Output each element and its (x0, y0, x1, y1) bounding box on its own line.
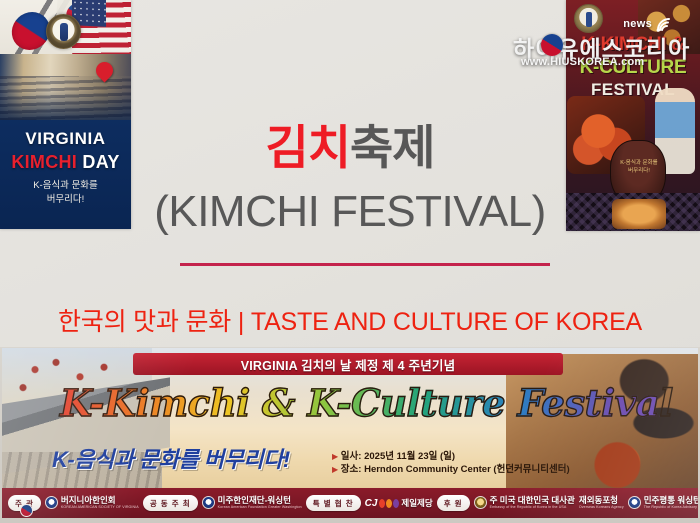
banner-info-place: ▶ 장소: Herndon Community Center (헌던커뮤니티센터… (332, 461, 570, 475)
sponsor-org-1: 미주한인재단-워싱턴 Korean American Foundation Gr… (202, 496, 302, 509)
banner-artwork: VIRGINIA 김치의 날 제정 제 4 주년기념 K-Kimchi & K-… (2, 348, 698, 518)
sponsor-emblem-icon (474, 496, 487, 509)
banner-subtitle: K-음식과 문화를 버무리다! (52, 442, 290, 474)
cj-dot-purple (393, 499, 399, 508)
poster-right-line1: K-KIMCHI & (566, 34, 700, 56)
sponsor-emblem-icon (45, 496, 58, 509)
poster-left-chamber-photo (0, 54, 131, 120)
cj-dot-orange (386, 499, 392, 508)
sponsor-role-3: 후 원 (437, 495, 470, 511)
banner-title: K-Kimchi & K-Culture Festival (60, 381, 660, 433)
banner-info-date: ▶ 일사: 2025년 11월 23일 (일) (332, 448, 455, 462)
sponsor-role-2: 특 별 협 찬 (306, 495, 361, 511)
sponsor-name-en-1: Korean American Foundation Greater Washi… (218, 506, 302, 510)
sponsor-emblem-icon (202, 496, 215, 509)
sponsor-name-4: 재외동포청 Overseas Koreans Agency (579, 496, 624, 509)
sponsor-name-5: 민주평통 워싱턴협의회 The Republic of Korea Adviso… (644, 496, 698, 509)
taeguk-circle-icon (541, 34, 563, 56)
sponsor-name-0: 버지니아한인회 KOREAN AMERICAN SOCIETY OF VIRGI… (61, 496, 139, 509)
page-title-kimchi: 김치 (266, 121, 350, 174)
title-divider (180, 263, 550, 266)
banner-ribbon-text: VIRGINIA 김치의 날 제정 제 4 주년기념 (241, 355, 456, 374)
sponsor-org-4: 재외동포청 Overseas Koreans Agency (579, 496, 624, 509)
poster-right-line2: K-CULTURE (566, 57, 700, 79)
page-title-festival: 축제 (350, 121, 434, 174)
virginia-seal-icon (574, 4, 603, 33)
cj-logo-text: CJ (365, 498, 378, 509)
chamber-seating-rows (0, 76, 131, 120)
sponsor-org-5: 민주평통 워싱턴협의회 The Republic of Korea Adviso… (628, 496, 698, 509)
bullet-arrow-icon: ▶ (332, 452, 338, 461)
sponsor-org-3: 주 미국 대한민국 대사관 Embassy of the Republic of… (474, 496, 575, 509)
cj-dot-red (379, 499, 385, 508)
sponsor-name-en-5: The Republic of Korea Advisory Council W… (644, 506, 698, 510)
sponsor-name-3: 주 미국 대한민국 대사관 Embassy of the Republic of… (490, 496, 575, 509)
sponsor-emblem-icon (628, 496, 641, 509)
sponsor-role-1: 공 동 주 최 (143, 495, 198, 511)
page-title: 김치축제 (0, 124, 700, 171)
sponsor-emblem-icon (20, 504, 33, 517)
presentation-slide: VIRGINIA KIMCHI DAY K-음식과 문화를 버무리다! K-KI… (0, 0, 700, 523)
sponsor-org-2: CJ 제일제당 (365, 497, 433, 509)
sponsor-name-1: 미주한인재단-워싱턴 Korean American Foundation Gr… (218, 496, 302, 509)
sponsor-org-0: 버지니아한인회 KOREAN AMERICAN SOCIETY OF VIRGI… (45, 496, 139, 509)
poster-left-flags-area (0, 0, 131, 62)
page-tagline: 한국의 맛과 문화 | TASTE AND CULTURE OF KOREA (0, 302, 700, 338)
banner-sponsor-bar: 주 관 버지니아한인회 KOREAN AMERICAN SOCIETY OF V… (2, 488, 698, 518)
cj-dots-icon (379, 499, 399, 508)
banner-place-label: 장소: (341, 464, 362, 475)
sponsor-name-ko-2: 제일제당 (401, 497, 432, 509)
page-title-english: (KIMCHI FESTIVAL) (0, 190, 700, 234)
sponsor-name-en-4: Overseas Koreans Agency (579, 506, 624, 510)
banner-ribbon: VIRGINIA 김치의 날 제정 제 4 주년기념 (133, 353, 563, 375)
virginia-seal-icon (46, 14, 81, 49)
bullet-arrow-icon: ▶ (332, 465, 338, 474)
banner-place-value: Herndon Community Center (헌던커뮤니티센터) (364, 464, 570, 475)
sponsor-name-en-3: Embassy of the Republic of Korea in the … (490, 506, 575, 510)
event-banner-photo: VIRGINIA 김치의 날 제정 제 4 주년기념 K-Kimchi & K-… (0, 347, 700, 523)
sponsor-name-en-0: KOREAN AMERICAN SOCIETY OF VIRGINIA (61, 506, 139, 510)
